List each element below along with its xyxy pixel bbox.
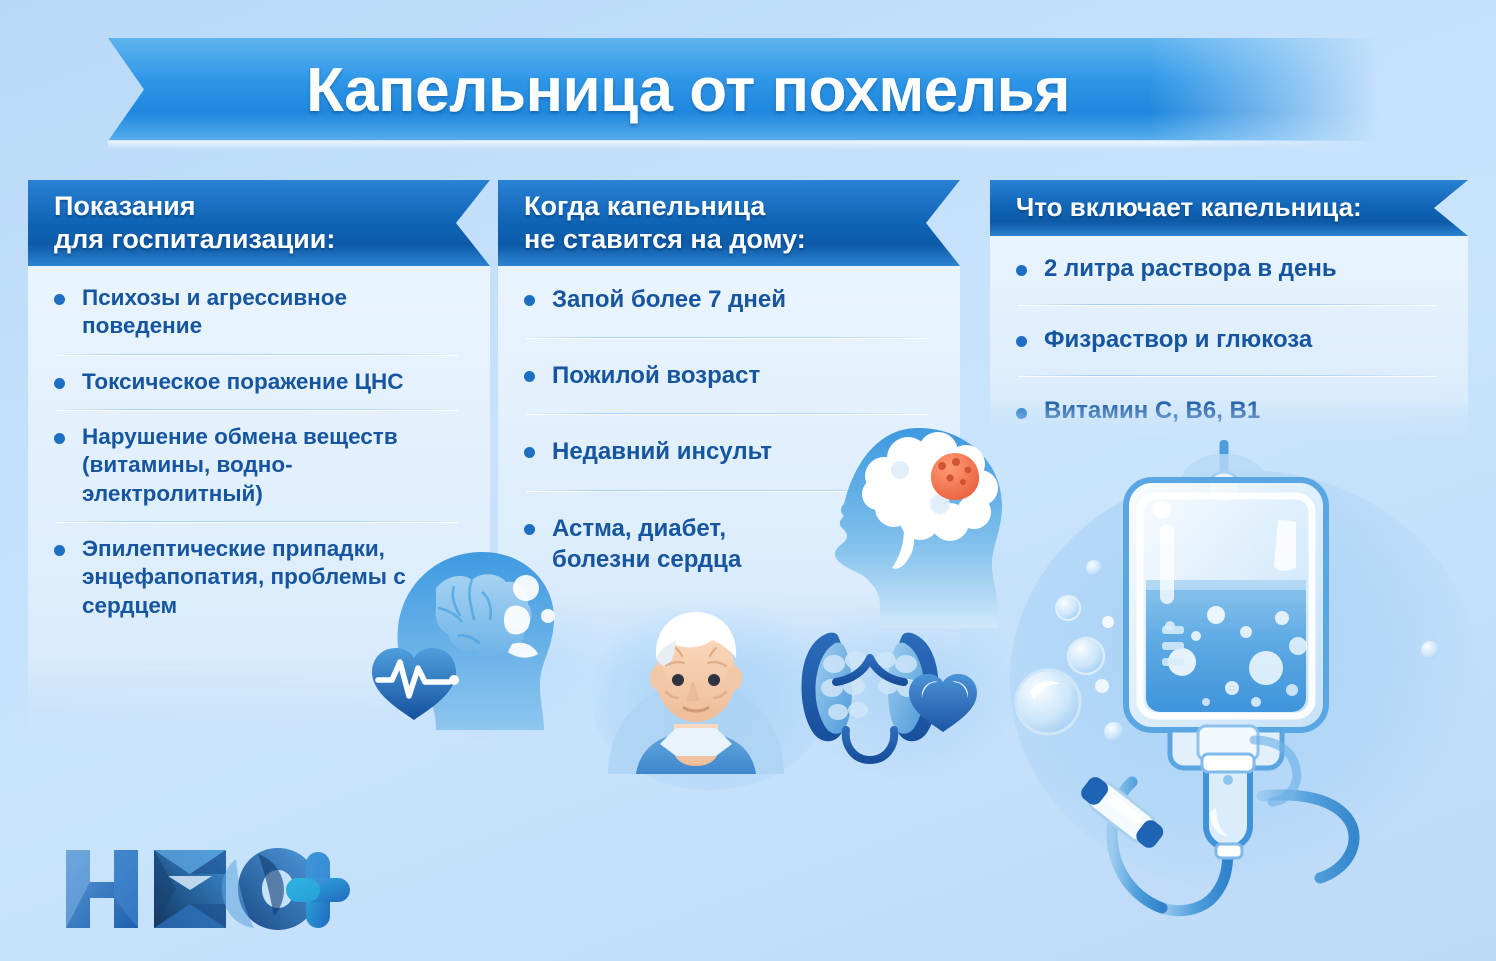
logo-letter-n [66,850,138,928]
card-contents: Что включает капельница: 2 литра раствор… [990,180,1468,444]
list-item: Астма, диабет, болезни сердца [520,513,782,575]
list-item: Психозы и агрессивное поведение [50,284,464,341]
card-indications: Показания для госпитализации: Психозы и … [28,180,490,766]
card-restrictions-header: Когда капельница не ставится на дому: [498,180,960,266]
list-item: Витамин C, B6, B1 [1012,396,1442,426]
iv-drip-bag-icon [1010,440,1480,940]
indications-list: Психозы и агрессивное поведение Токсичес… [50,284,464,620]
card-contents-header: Что включает капельница: [990,180,1468,236]
list-item: Запой более 7 дней [520,284,934,315]
list-item: Нарушение обмена веществ (витамины, водн… [50,423,464,508]
title-ribbon-shadow [108,140,1378,150]
card-restrictions: Когда капельница не ставится на дому: За… [498,180,960,686]
card-indications-header: Показания для госпитализации: [28,180,490,266]
list-separator [526,413,928,414]
logo-letter-e [154,850,226,928]
list-separator [526,490,928,491]
page-title: Капельница от похмелья [108,45,1268,135]
list-separator [56,354,458,355]
logo-neo-plus [58,838,358,943]
list-item: Эпилептические припадки, энцефапопатия, … [50,535,464,620]
list-item: Пожилой возраст [520,360,934,391]
list-item: Токсическое поражение ЦНС [50,368,464,396]
card-restrictions-title: Когда капельница не ставится на дому: [524,190,806,256]
card-indications-body: Психозы и агрессивное поведение Токсичес… [28,266,490,766]
card-contents-title: Что включает капельница: [1016,192,1362,224]
card-restrictions-body: Запой более 7 дней Пожилой возраст Недав… [498,266,960,686]
list-separator [56,409,458,410]
list-separator [1018,304,1436,305]
list-separator [1018,375,1436,376]
list-item: Недавний инсульт [520,436,934,467]
restrictions-list: Запой более 7 дней Пожилой возраст Недав… [520,284,934,575]
list-item: 2 литра раствора в день [1012,254,1442,284]
card-indications-title: Показания для госпитализации: [54,190,335,256]
list-separator [526,337,928,338]
background-blob-right [1010,470,1480,890]
card-contents-body: 2 литра раствора в день Физраствор и глю… [990,236,1468,444]
list-separator [56,521,458,522]
list-item: Физраствор и глюкоза [1012,325,1442,355]
infographic-root: Капельница от похмелья Показания для гос… [0,0,1496,961]
contents-list: 2 литра раствора в день Физраствор и глю… [1012,254,1442,427]
